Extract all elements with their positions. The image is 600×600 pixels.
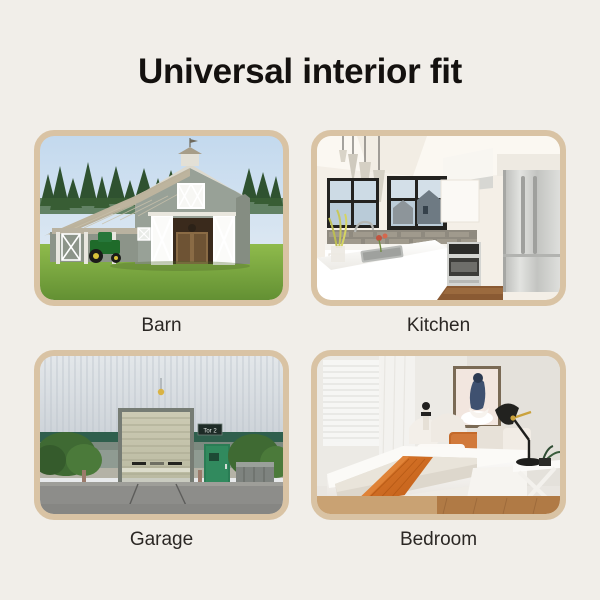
barn-illustration xyxy=(40,136,283,300)
product-feature-panel: Universal interior fit xyxy=(0,0,600,600)
gallery-item-barn[interactable]: Barn xyxy=(34,130,289,339)
page-title: Universal interior fit xyxy=(0,50,600,94)
gallery-item-bedroom[interactable]: Bedroom xyxy=(311,350,566,553)
gallery-label-kitchen: Kitchen xyxy=(407,313,470,339)
bedroom-photo xyxy=(317,356,560,514)
gallery-label-bedroom: Bedroom xyxy=(400,527,477,553)
gallery-label-garage: Garage xyxy=(130,527,193,553)
kitchen-card[interactable] xyxy=(311,130,566,306)
svg-text:Tor 2: Tor 2 xyxy=(203,429,217,435)
door-number-sign: Tor 2 xyxy=(198,424,222,435)
kitchen-photo xyxy=(317,136,560,300)
bedroom-card[interactable] xyxy=(311,350,566,520)
bedroom-illustration xyxy=(317,356,560,514)
gallery-item-garage[interactable]: Tor 2 xyxy=(34,350,289,553)
garage-card[interactable]: Tor 2 xyxy=(34,350,289,520)
garage-illustration: Tor 2 xyxy=(40,356,283,514)
barn-card[interactable] xyxy=(34,130,289,306)
kitchen-illustration xyxy=(317,136,560,300)
scene-gallery-grid: Barn xyxy=(34,130,566,553)
gallery-item-kitchen[interactable]: Kitchen xyxy=(311,130,566,339)
gallery-label-barn: Barn xyxy=(141,313,181,339)
garage-photo: Tor 2 xyxy=(40,356,283,514)
barn-photo xyxy=(40,136,283,300)
